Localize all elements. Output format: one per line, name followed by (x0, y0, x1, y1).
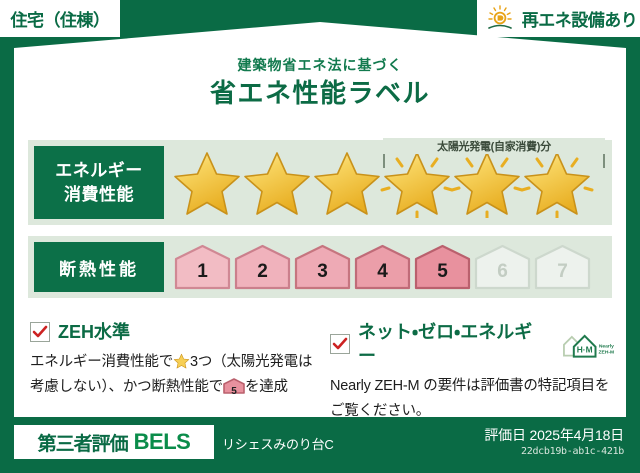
inline-badge-value: 5 (223, 379, 245, 404)
criteria-nze-header: ネット・ゼロ・エネルギー H·M Nearly ZEH-M (330, 320, 615, 368)
footer-bar: 第三者評価 BELS リシェスみのり台C 評価日 2025年4月18日 22dc… (0, 417, 640, 473)
renewable-equipment-badge: 再エネ設備あり (477, 0, 640, 37)
insulation-level-badge: 3 (294, 244, 351, 290)
svg-text:H·M: H·M (576, 345, 592, 355)
solar-bracket (383, 152, 605, 168)
insulation-level-badge: 6 (474, 244, 531, 290)
insulation-level-badge: 7 (534, 244, 591, 290)
net-zero-title: ネット・ゼロ・エネルギー (358, 320, 548, 368)
insulation-level-badge: 4 (354, 244, 411, 290)
solar-caption: 太陽光発電(自家消費)分 (383, 138, 605, 154)
criteria-net-zero-energy: ネット・ゼロ・エネルギー H·M Nearly ZEH-M Nearly ZEH… (330, 320, 615, 424)
criteria-zeh-header: ZEH水準 (30, 320, 315, 344)
page-title: 省エネ性能ラベル (0, 76, 640, 110)
insulation-level-value: 1 (197, 261, 208, 290)
zeh-description: エネルギー消費性能で 3つ（太陽光発電は考慮しない）、かつ断熱性能で 5 を達成 (30, 350, 315, 400)
energy-row-label-line2: 消費性能 (64, 183, 134, 207)
zeh-m-logo-icon: H·M Nearly ZEH-M (560, 329, 615, 359)
title-lead: 建築物省エネ法に基づく (0, 56, 640, 74)
energy-star-filled (310, 148, 384, 218)
insulation-performance-row: 断熱性能 1 2 3 4 5 (28, 236, 612, 298)
label-title-block: 建築物省エネ法に基づく 省エネ性能ラベル (0, 56, 640, 110)
energy-row-label: エネルギー 消費性能 (34, 146, 164, 219)
evaluation-date-value: 2025年4月18日 (529, 427, 624, 443)
evaluation-id: 22dcb19b-ab1c-421b (521, 446, 624, 457)
insulation-level-badge: 2 (234, 244, 291, 290)
insulation-level-value: 4 (377, 261, 388, 290)
energy-row-label-line1: エネルギー (55, 159, 143, 183)
sun-renewable-icon (486, 5, 516, 33)
bels-jp-label: 第三者評価 (38, 429, 128, 456)
zeh-checkbox[interactable] (30, 322, 50, 342)
zeh-desc-part1: エネルギー消費性能で (30, 354, 173, 370)
dwelling-type-text: 住宅（住棟） (11, 6, 110, 31)
zeh-desc-part3: を達成 (245, 379, 288, 395)
evaluation-date: 評価日 2025年4月18日 (484, 425, 624, 445)
inline-star-icon (173, 353, 190, 369)
energy-performance-label: 住宅（住棟） 再エネ設備あり 建築物省エネ法 (0, 0, 640, 473)
dwelling-type-plaque: 住宅（住棟） (0, 0, 120, 37)
insulation-level-value: 3 (317, 261, 328, 290)
evaluation-date-label: 評価日 (484, 427, 525, 443)
energy-star-filled (240, 148, 314, 218)
insulation-level-badge: 5 (414, 244, 471, 290)
insulation-level-value: 7 (557, 261, 568, 290)
renewable-badge-text: 再エネ設備あり (522, 6, 638, 31)
insulation-row-label: 断熱性能 (34, 242, 164, 292)
svg-text:ZEH-M: ZEH-M (598, 350, 614, 356)
insulation-level-badge: 1 (174, 244, 231, 290)
bels-plaque: 第三者評価 BELS (14, 425, 214, 459)
svg-text:Nearly: Nearly (599, 344, 614, 350)
criteria-zeh-standard: ZEH水準 エネルギー消費性能で 3つ（太陽光発電は考慮しない）、かつ断熱性能で… (30, 320, 315, 400)
insulation-badges: 1 2 3 4 5 6 (164, 244, 612, 290)
building-name: リシェスみのり台C (222, 434, 334, 453)
net-zero-checkbox[interactable] (330, 334, 350, 354)
insulation-level-value: 2 (257, 261, 268, 290)
energy-star-filled (170, 148, 244, 218)
insulation-level-value: 6 (497, 261, 508, 290)
bels-en-label: BELS (134, 429, 191, 455)
zeh-title: ZEH水準 (58, 320, 130, 344)
inline-insulation-badge: 5 (223, 378, 245, 394)
insulation-level-value: 5 (437, 261, 448, 290)
